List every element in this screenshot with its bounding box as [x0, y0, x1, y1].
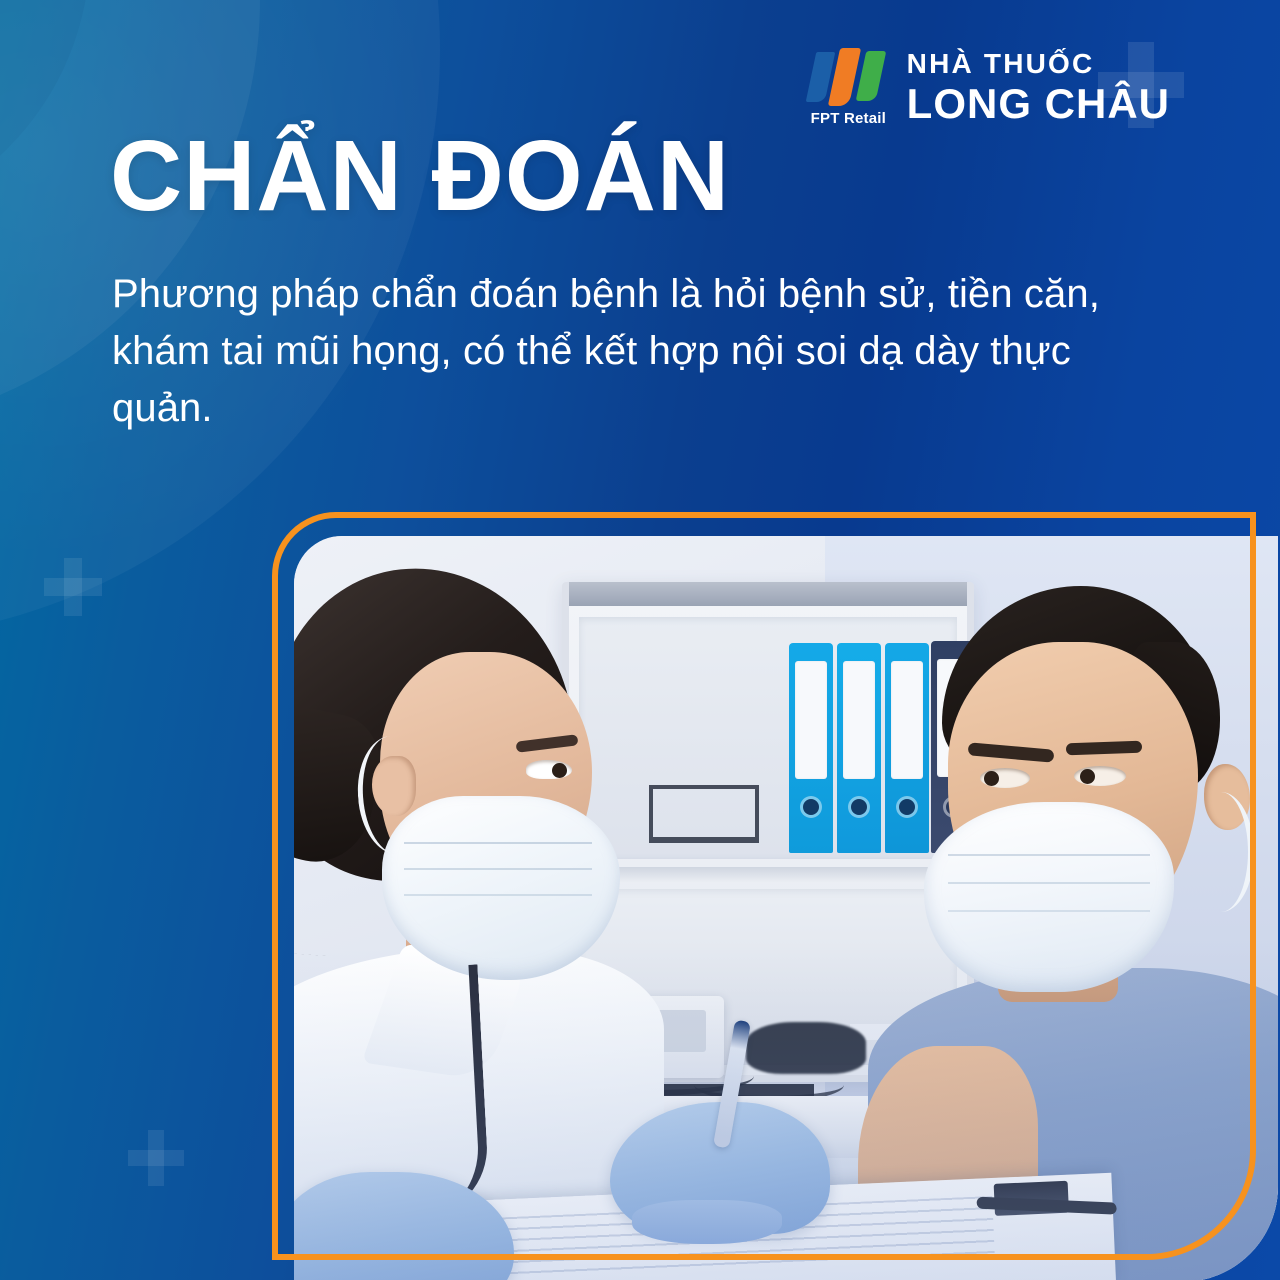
brand-wordmark: NHÀ THUỐC LONG CHÂU [907, 48, 1170, 126]
consultation-photo [294, 536, 1278, 1280]
body-paragraph: Phương pháp chẩn đoán bệnh là hỏi bệnh s… [112, 266, 1122, 436]
patient-pupil [984, 771, 999, 786]
patient-mask-strap [1188, 792, 1254, 912]
fpt-shapes-icon [811, 48, 887, 106]
poster-canvas: FPT Retail NHÀ THUỐC LONG CHÂU CHẨN ĐOÁN… [0, 0, 1280, 1280]
dark-equipment [746, 1022, 866, 1074]
background-arc-inner [0, 0, 90, 230]
medical-cross-icon [128, 1130, 184, 1186]
binder-cyan [789, 643, 833, 853]
patient-face-mask [924, 802, 1174, 992]
fpt-logo-mark: FPT Retail [811, 48, 889, 130]
brand-line-1: NHÀ THUỐC [907, 50, 1170, 78]
photo-block [272, 512, 1262, 1272]
brand-line-2: LONG CHÂU [907, 82, 1170, 126]
page-title: CHẨN ĐOÁN [110, 126, 730, 226]
medical-cross-icon [44, 558, 102, 616]
binder-cyan [837, 643, 881, 853]
patient-pupil [1080, 769, 1095, 784]
doctor-pupil [552, 763, 567, 778]
photo-scene [294, 536, 1278, 1280]
brand-logo[interactable]: FPT Retail NHÀ THUỐC LONG CHÂU [811, 48, 1170, 130]
fpt-retail-label: FPT Retail [811, 110, 889, 127]
